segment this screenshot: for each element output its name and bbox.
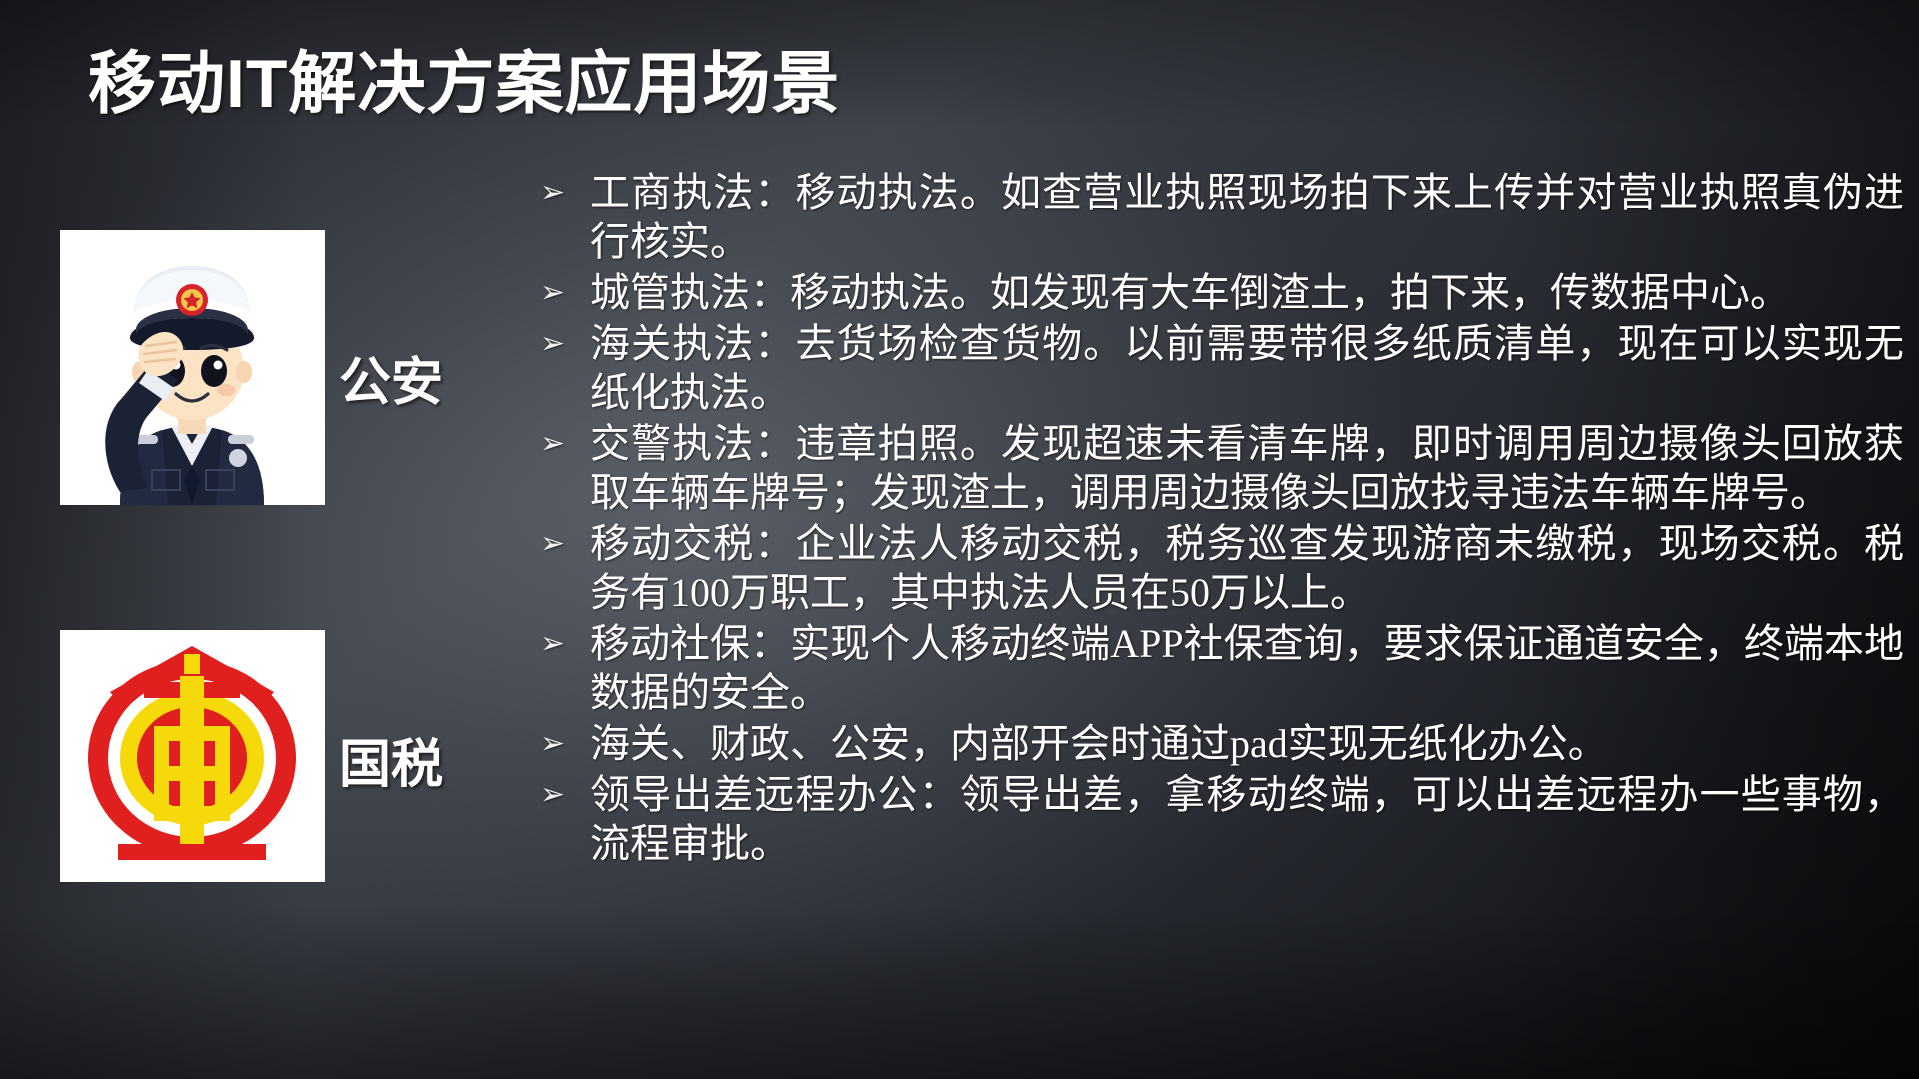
list-item-text: 城管执法：移动执法。如发现有大车倒渣土，拍下来，传数据中心。 [590, 268, 1904, 317]
list-item: ➢ 海关执法：去货场检查货物。以前需要带很多纸质清单，现在可以实现无纸化执法。 [536, 319, 1904, 417]
list-item-text: 领导出差远程办公：领导出差，拿移动终端，可以出差远程办一些事物，流程审批。 [590, 770, 1904, 868]
org-label-state-taxation: 国税 [339, 716, 443, 797]
list-item-text: 移动交税：企业法人移动交税，税务巡查发现游商未缴税，现场交税。税务有100万职工… [590, 519, 1904, 617]
bullet-list: ➢ 工商执法：移动执法。如查营业执照现场拍下来上传并对营业执照真伪进行核实。 ➢… [536, 168, 1904, 870]
list-item: ➢ 交警执法：违章拍照。发现超速未看清车牌，即时调用周边摄像头回放获取车辆车牌号… [536, 419, 1904, 517]
arrow-bullet-icon: ➢ [536, 319, 590, 368]
list-item: ➢ 工商执法：移动执法。如查营业执照现场拍下来上传并对营业执照真伪进行核实。 [536, 168, 1904, 266]
arrow-bullet-icon: ➢ [536, 268, 590, 317]
arrow-bullet-icon: ➢ [536, 619, 590, 668]
org-block-state-taxation: 国税 [60, 630, 443, 882]
arrow-bullet-icon: ➢ [536, 770, 590, 819]
list-item-text: 海关执法：去货场检查货物。以前需要带很多纸质清单，现在可以实现无纸化执法。 [590, 319, 1904, 417]
list-item-text: 移动社保：实现个人移动终端APP社保查询，要求保证通道安全，终端本地数据的安全。 [590, 619, 1904, 717]
china-state-taxation-emblem [60, 630, 325, 882]
list-item: ➢ 移动交税：企业法人移动交税，税务巡查发现游商未缴税，现场交税。税务有100万… [536, 519, 1904, 617]
list-item-text: 工商执法：移动执法。如查营业执照现场拍下来上传并对营业执照真伪进行核实。 [590, 168, 1904, 266]
org-label-public-security: 公安 [339, 320, 443, 415]
list-item-text: 交警执法：违章拍照。发现超速未看清车牌，即时调用周边摄像头回放获取车辆车牌号；发… [590, 419, 1904, 517]
list-item: ➢ 移动社保：实现个人移动终端APP社保查询，要求保证通道安全，终端本地数据的安… [536, 619, 1904, 717]
arrow-bullet-icon: ➢ [536, 419, 590, 468]
arrow-bullet-icon: ➢ [536, 719, 590, 768]
org-block-public-security: 公安 [60, 230, 443, 505]
saluting-police-officer-illustration [60, 230, 325, 505]
left-image-column: 公安 [0, 230, 560, 990]
arrow-bullet-icon: ➢ [536, 168, 590, 217]
arrow-bullet-icon: ➢ [536, 519, 590, 568]
list-item: ➢ 领导出差远程办公：领导出差，拿移动终端，可以出差远程办一些事物，流程审批。 [536, 770, 1904, 868]
presentation-slide: 移动IT解决方案应用场景 [0, 0, 1919, 1079]
list-item: ➢ 城管执法：移动执法。如发现有大车倒渣土，拍下来，传数据中心。 [536, 268, 1904, 317]
list-item: ➢ 海关、财政、公安，内部开会时通过pad实现无纸化办公。 [536, 719, 1904, 768]
page-title: 移动IT解决方案应用场景 [88, 48, 840, 121]
list-item-text: 海关、财政、公安，内部开会时通过pad实现无纸化办公。 [590, 719, 1904, 768]
